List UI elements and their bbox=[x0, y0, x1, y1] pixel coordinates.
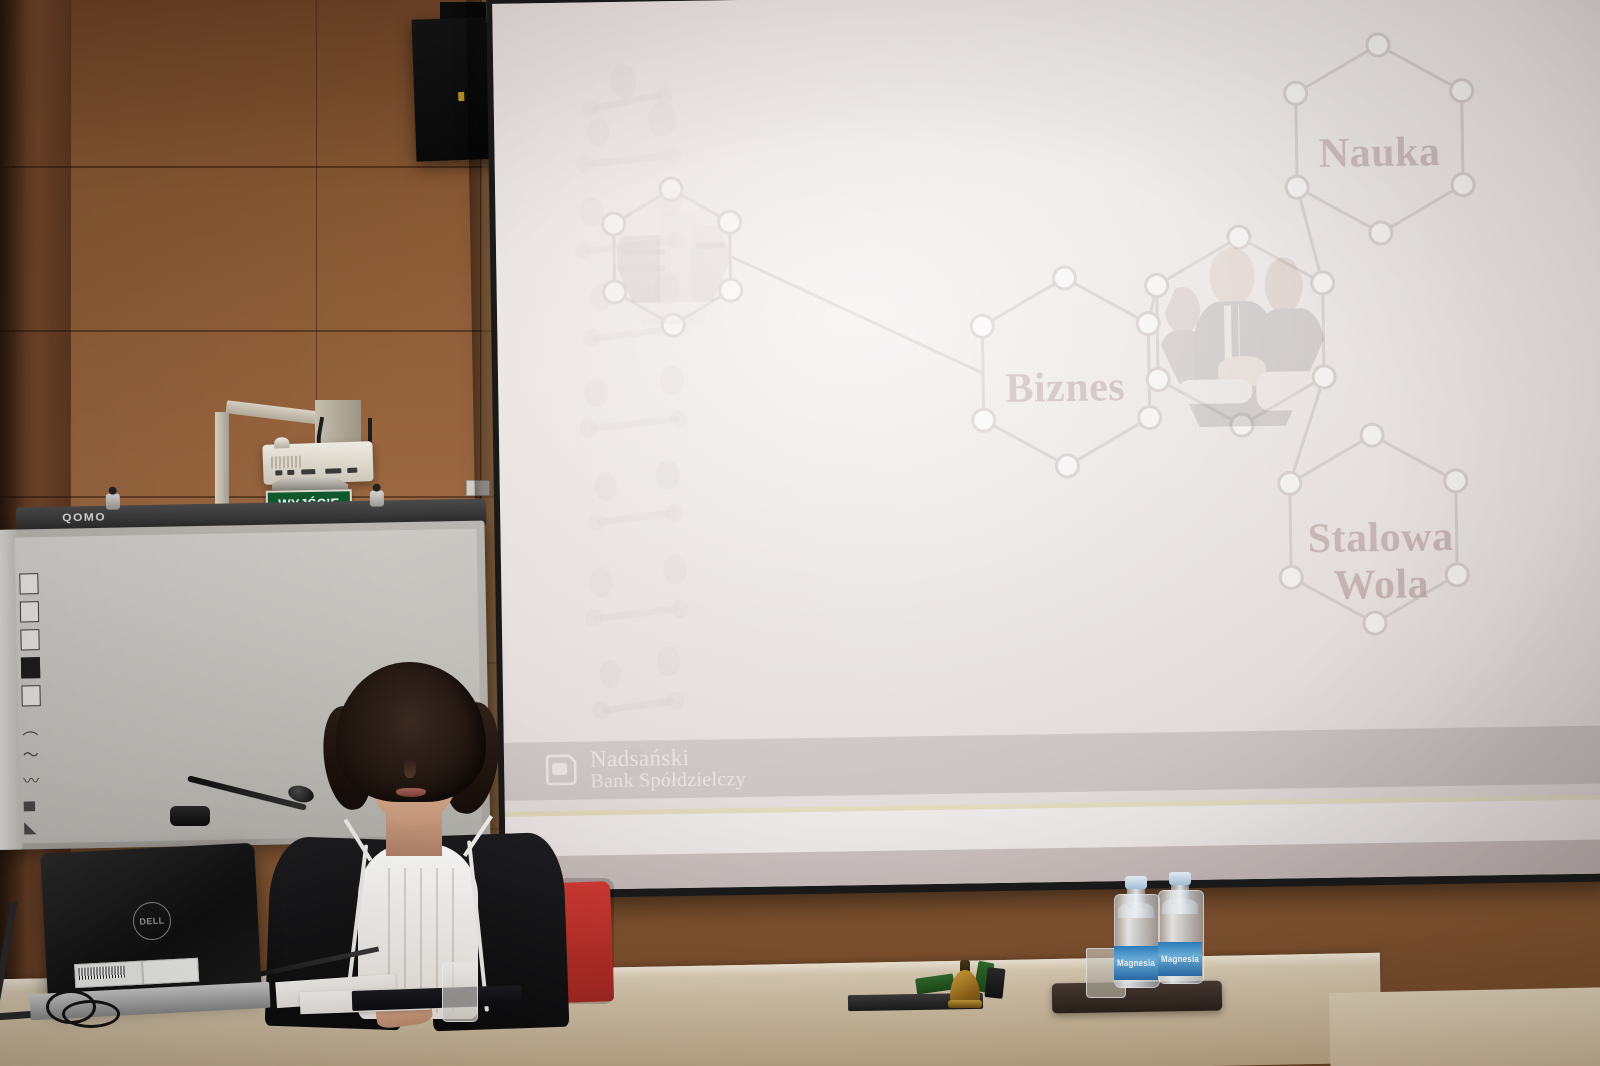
microphone-base bbox=[170, 806, 210, 826]
wall-seam bbox=[0, 166, 520, 168]
bank-logo-text: Nadsański Bank Spółdzielczy bbox=[590, 745, 746, 793]
water-bottle[interactable]: Magnesia bbox=[1114, 876, 1158, 988]
bottle-cap bbox=[1125, 876, 1147, 889]
hex-label-stalowa-line1: Stalowa bbox=[1255, 513, 1506, 564]
projection-screen: Nauka Biznes Stalowa Wola Nadsański Bank… bbox=[486, 0, 1600, 899]
hex-label-biznes: Biznes bbox=[950, 363, 1181, 414]
whiteboard-brand-label: QOMO bbox=[62, 511, 106, 524]
building-photo-hexagon bbox=[611, 186, 733, 328]
projector-button[interactable] bbox=[325, 468, 341, 474]
laptop-lid: DELL bbox=[40, 843, 262, 1004]
dell-logo-icon: DELL bbox=[132, 901, 172, 941]
nose bbox=[404, 758, 416, 778]
whiteboard-tool-blank-page-icon[interactable] bbox=[20, 629, 40, 649]
bottle-label: Magnesia bbox=[1158, 942, 1202, 976]
water-bottle[interactable]: Magnesia bbox=[1158, 872, 1202, 984]
whiteboard-tool-stamp-icon[interactable]: ▄ bbox=[23, 793, 45, 815]
hex-label-stalowa-line2: Wola bbox=[1256, 560, 1507, 611]
hair bbox=[336, 662, 486, 802]
bottle-label: Magnesia bbox=[1114, 946, 1158, 980]
projector-button[interactable] bbox=[347, 468, 357, 473]
bottle-brand-text: Magnesia bbox=[1117, 958, 1155, 968]
speaker-led-icon bbox=[458, 92, 464, 101]
mouth bbox=[396, 788, 426, 797]
wall-seam bbox=[0, 330, 520, 332]
projector-button[interactable] bbox=[287, 470, 294, 475]
bottle-cap bbox=[1169, 872, 1191, 885]
bank-name-line2: Bank Spółdzielczy bbox=[590, 769, 746, 792]
whiteboard-tool-image-icon[interactable] bbox=[21, 685, 41, 705]
barcode-icon bbox=[78, 966, 125, 980]
desk-cable bbox=[62, 1000, 120, 1028]
whiteboard-knob[interactable] bbox=[370, 490, 384, 506]
bottle-brand-text: Magnesia bbox=[1161, 954, 1199, 964]
exit-sign-bracket bbox=[272, 476, 348, 490]
projector-button[interactable] bbox=[301, 469, 315, 474]
presenter-person bbox=[258, 662, 568, 1022]
bell-rim bbox=[948, 1000, 982, 1008]
whiteboard-tool-pen-medium-icon[interactable]: 〜 bbox=[22, 741, 44, 763]
whiteboard-knob[interactable] bbox=[106, 494, 120, 510]
whiteboard-tool-eraser-icon[interactable]: ◣ bbox=[24, 817, 46, 839]
water-glass[interactable] bbox=[442, 962, 478, 1022]
hex-label-nauka: Nauka bbox=[1264, 128, 1495, 179]
whiteboard-tool-pen-thick-icon[interactable]: 〰 bbox=[23, 767, 45, 789]
whiteboard-tool-fill-icon[interactable] bbox=[21, 657, 41, 677]
dark-marker[interactable] bbox=[984, 967, 1005, 999]
dell-laptop[interactable]: DELL bbox=[40, 843, 262, 1004]
projection-surface: Nauka Biznes Stalowa Wola Nadsański Bank… bbox=[492, 0, 1600, 891]
presentation-slide: Nauka Biznes Stalowa Wola Nadsański Bank… bbox=[492, 0, 1600, 891]
brass-bell[interactable] bbox=[948, 960, 982, 1008]
wall-seam bbox=[0, 496, 520, 498]
desk-side-panel bbox=[1329, 987, 1600, 1066]
whiteboard-tool-duplicate-page-icon[interactable] bbox=[20, 601, 40, 621]
projector-vent bbox=[271, 456, 301, 469]
presentation-room-scene: Nauka Biznes Stalowa Wola Nadsański Bank… bbox=[0, 0, 1600, 1066]
whiteboard-tool-pen-thin-icon[interactable]: ︵ bbox=[22, 715, 44, 737]
bell-dome bbox=[950, 970, 980, 1004]
hex-label-stalowa-wola: Stalowa Wola bbox=[1255, 513, 1506, 611]
projector-lens-icon bbox=[274, 437, 289, 449]
laptop-asset-sticker bbox=[74, 961, 143, 989]
whiteboard-tool-new-page-icon[interactable] bbox=[19, 573, 39, 593]
laptop-spec-sticker bbox=[142, 958, 199, 985]
projector-button[interactable] bbox=[275, 470, 282, 475]
